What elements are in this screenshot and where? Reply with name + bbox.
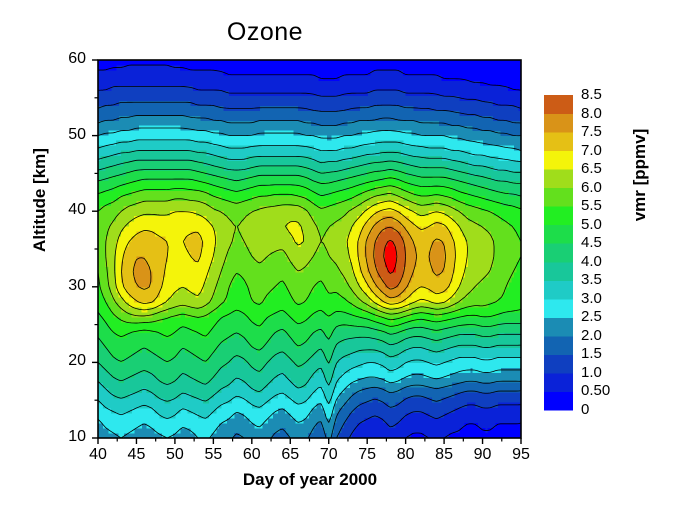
x-tick-label: 95 (507, 446, 535, 464)
x-tick-label: 65 (276, 446, 304, 464)
colorbar-label: vmr [ppmv] (630, 75, 650, 275)
x-tick-label: 80 (392, 446, 420, 464)
colorbar-tick-label: 0.50 (581, 382, 610, 399)
y-tick-label: 20 (50, 352, 86, 370)
y-tick-label: 30 (50, 277, 86, 295)
colorbar-tick-label: 7.5 (581, 123, 602, 140)
colorbar-tick-label: 8.5 (581, 86, 602, 103)
x-tick-label: 50 (161, 446, 189, 464)
x-axis-label: Day of year 2000 (98, 470, 522, 490)
y-axis-label: Altitude [km] (30, 100, 50, 300)
ozone-contour-figure: Ozone 404550556065707580859095 102030405… (0, 0, 675, 525)
x-tick-label: 90 (469, 446, 497, 464)
chart-title: Ozone (0, 18, 530, 47)
colorbar-tick-label: 2.0 (581, 327, 602, 344)
x-tick-label: 70 (315, 446, 343, 464)
x-tick-label: 45 (122, 446, 150, 464)
colorbar (544, 95, 573, 411)
colorbar-tick-label: 3.0 (581, 290, 602, 307)
colorbar-tick-label: 7.0 (581, 142, 602, 159)
y-tick-label: 60 (50, 50, 86, 68)
colorbar-tick-label: 0 (581, 401, 589, 418)
x-tick-label: 85 (430, 446, 458, 464)
colorbar-tick-label: 1.5 (581, 345, 602, 362)
y-tick-label: 40 (50, 201, 86, 219)
y-tick-label: 10 (50, 428, 86, 446)
x-tick-label: 75 (353, 446, 381, 464)
x-tick-label: 40 (84, 446, 112, 464)
colorbar-tick-label: 4.5 (581, 234, 602, 251)
colorbar-tick-label: 6.0 (581, 179, 602, 196)
y-tick-label: 50 (50, 126, 86, 144)
colorbar-tick-label: 3.5 (581, 271, 602, 288)
colorbar-tick-label: 8.0 (581, 105, 602, 122)
colorbar-tick-label: 2.5 (581, 308, 602, 325)
colorbar-tick-label: 5.5 (581, 197, 602, 214)
x-tick-label: 60 (238, 446, 266, 464)
x-tick-label: 55 (199, 446, 227, 464)
colorbar-tick-label: 6.5 (581, 160, 602, 177)
colorbar-tick-label: 4.0 (581, 253, 602, 270)
colorbar-tick-label: 5.0 (581, 216, 602, 233)
colorbar-tick-label: 1.0 (581, 364, 602, 381)
